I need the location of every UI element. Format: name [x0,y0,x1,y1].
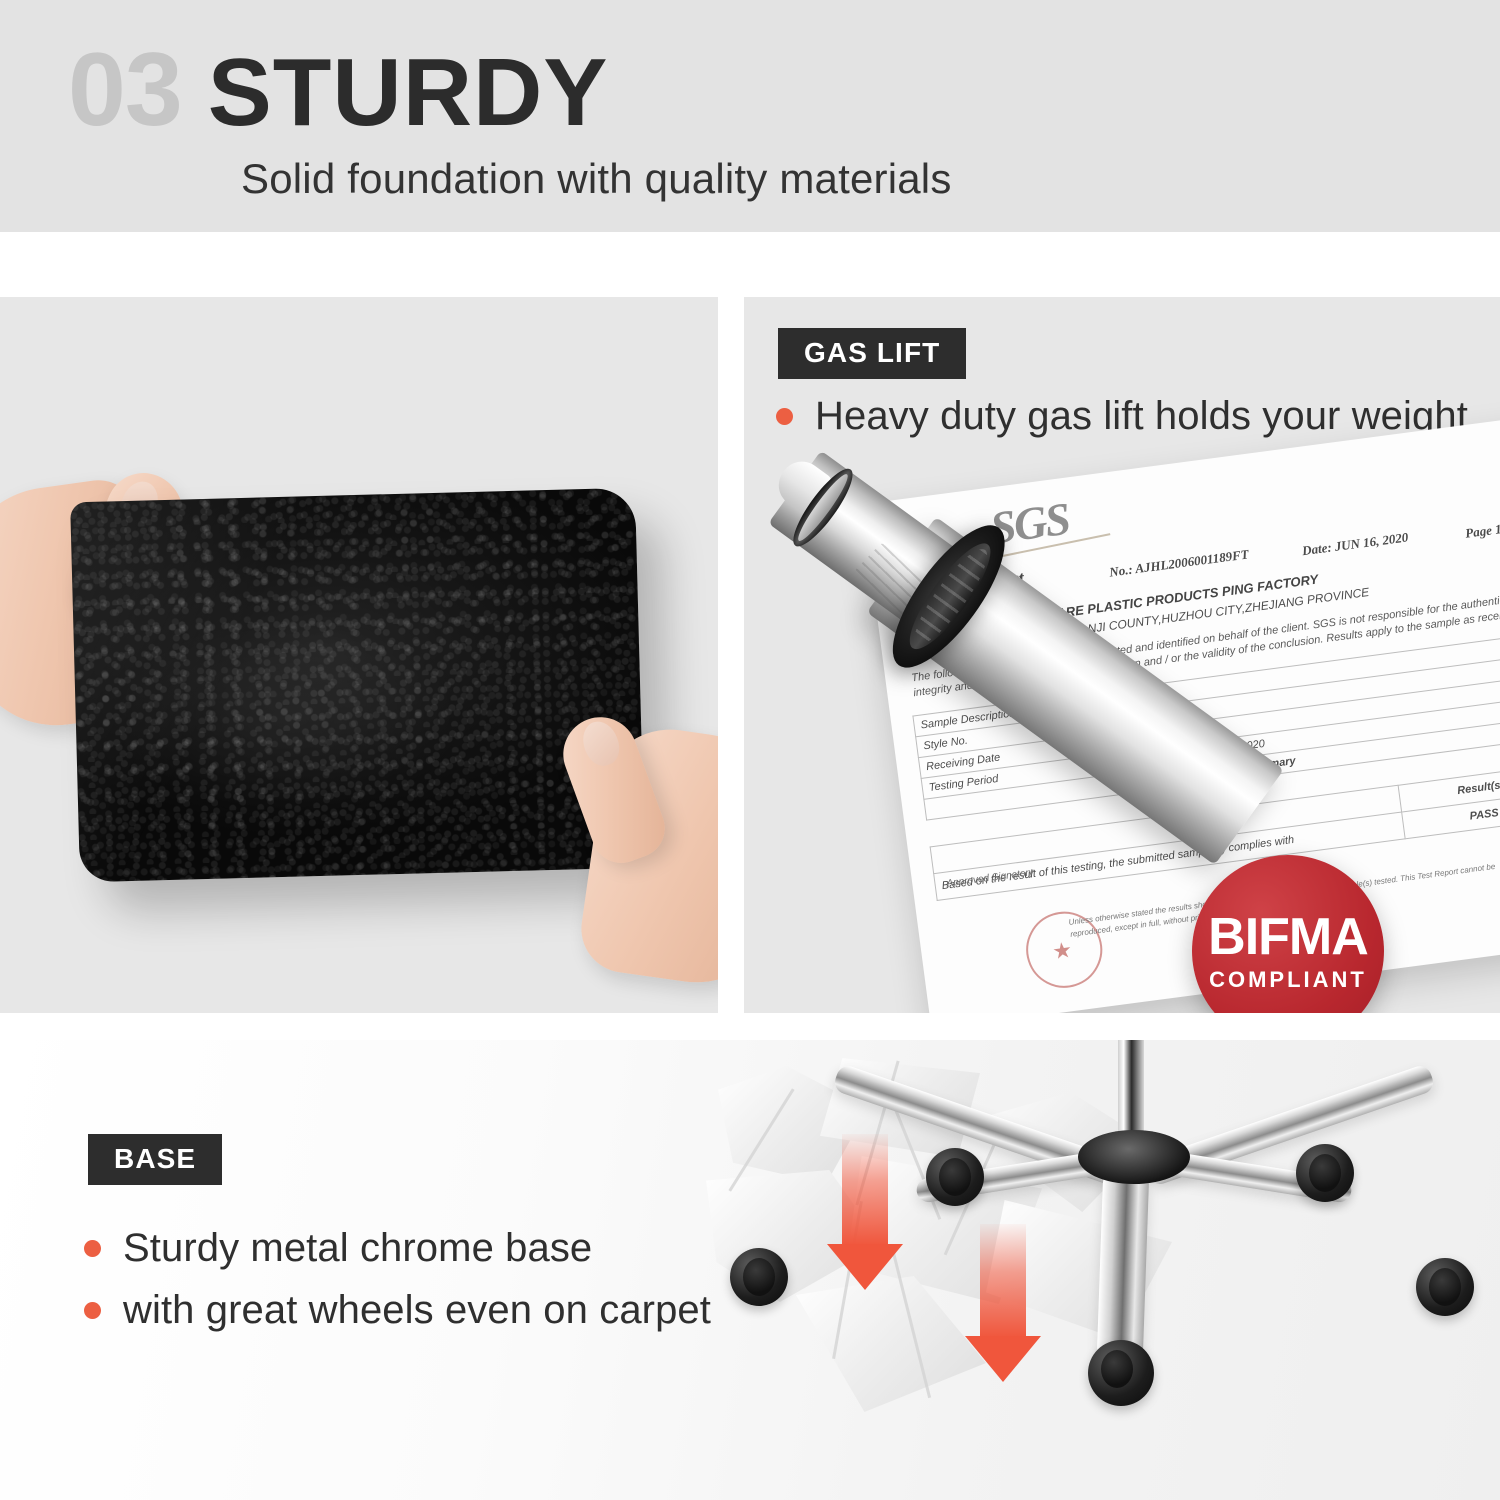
bullet-gaslift-1: Heavy duty gas lift holds your weight [776,394,1468,439]
caster-wheel [730,1248,788,1306]
floor-shard [796,1276,986,1412]
section-title: STURDY [208,45,609,141]
bullet-dot-icon [776,408,793,425]
leather-photo [0,447,718,1013]
chip-label-base: BASE [88,1134,222,1185]
caster-wheel [1088,1340,1154,1406]
caster-wheel [926,1148,984,1206]
section-subtitle: Solid foundation with quality materials [241,155,952,203]
arrow-head-icon [965,1336,1041,1382]
header-band: 03 STURDY Solid foundation with quality … [0,0,1500,232]
arrow-shaft [980,1224,1026,1338]
report-number: No.: AJHL2006001189FT [1108,546,1249,580]
bullet-text: Heavy duty gas lift holds your weight [815,394,1468,439]
base-leg-front [1097,1165,1150,1366]
leather-swatch [70,488,645,883]
section-number: 03 [68,38,182,142]
chip-label-gas-lift: GAS LIFT [778,328,966,379]
panel-leather: LEATHER Long lasting & strong leather [0,297,718,1013]
page-title: 03 STURDY [68,38,608,142]
base-hub [1078,1130,1190,1184]
bullet-text: with great wheels even on carpet [123,1288,711,1333]
chair-base-photo [700,1040,1500,1500]
report-page: Page 1 of 2 [1464,518,1500,542]
panel-gas-lift: GAS LIFT Heavy duty gas lift holds your … [744,297,1500,1013]
badge-main-text: BIFMA [1208,911,1368,963]
infographic-page: 03 STURDY Solid foundation with quality … [0,0,1500,1500]
caster-wheel [1416,1258,1474,1316]
bullet-dot-icon [84,1302,101,1319]
panel-base: BASE Sturdy metal chrome base with great… [0,1040,1500,1500]
bullet-base-1: Sturdy metal chrome base [84,1226,592,1271]
arrow-head-icon [827,1244,903,1290]
arrow-shaft [842,1134,888,1246]
badge-sub-text: COMPLIANT [1209,969,1367,991]
report-date: Date: JUN 16, 2020 [1301,529,1409,559]
gas-lift-photo: SGS Test Report No.: AJHL2006001189FT Da… [744,457,1500,1013]
bullet-text: Sturdy metal chrome base [123,1226,592,1271]
caster-wheel [1296,1144,1354,1202]
bullet-dot-icon [84,1240,101,1257]
bullet-base-2: with great wheels even on carpet [84,1288,711,1333]
